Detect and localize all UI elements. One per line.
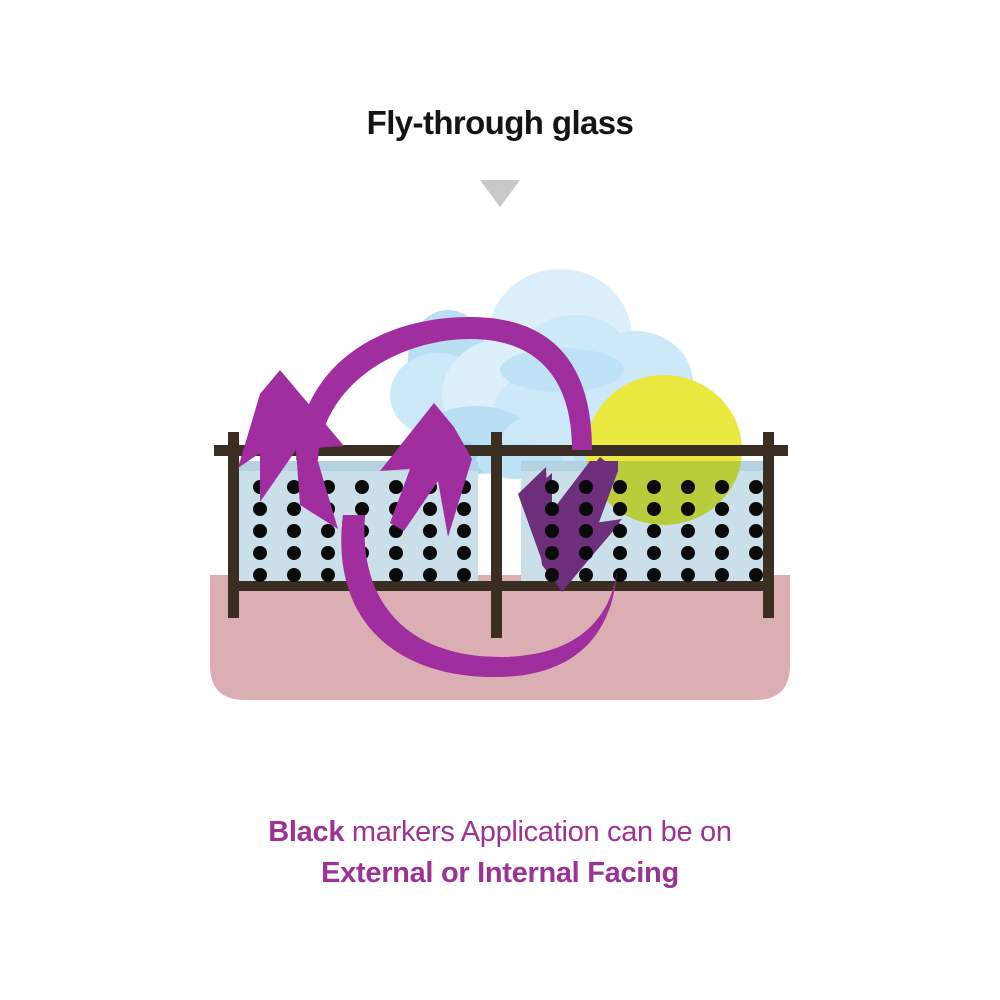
caption-line-2: External or Internal Facing [0,853,1000,894]
fly-through-glass-illustration [180,265,820,765]
caption-strong: Black [268,816,344,848]
page-title: Fly-through glass [0,104,1000,142]
page-root: Fly-through glass [0,0,1000,1000]
caption-line-1: Black markers Application can be on [0,812,1000,853]
triangle-down-icon [480,180,520,207]
caption-rest: markers Application can be on [344,816,732,848]
caption-block: Black markers Application can be on Exte… [0,812,1000,894]
